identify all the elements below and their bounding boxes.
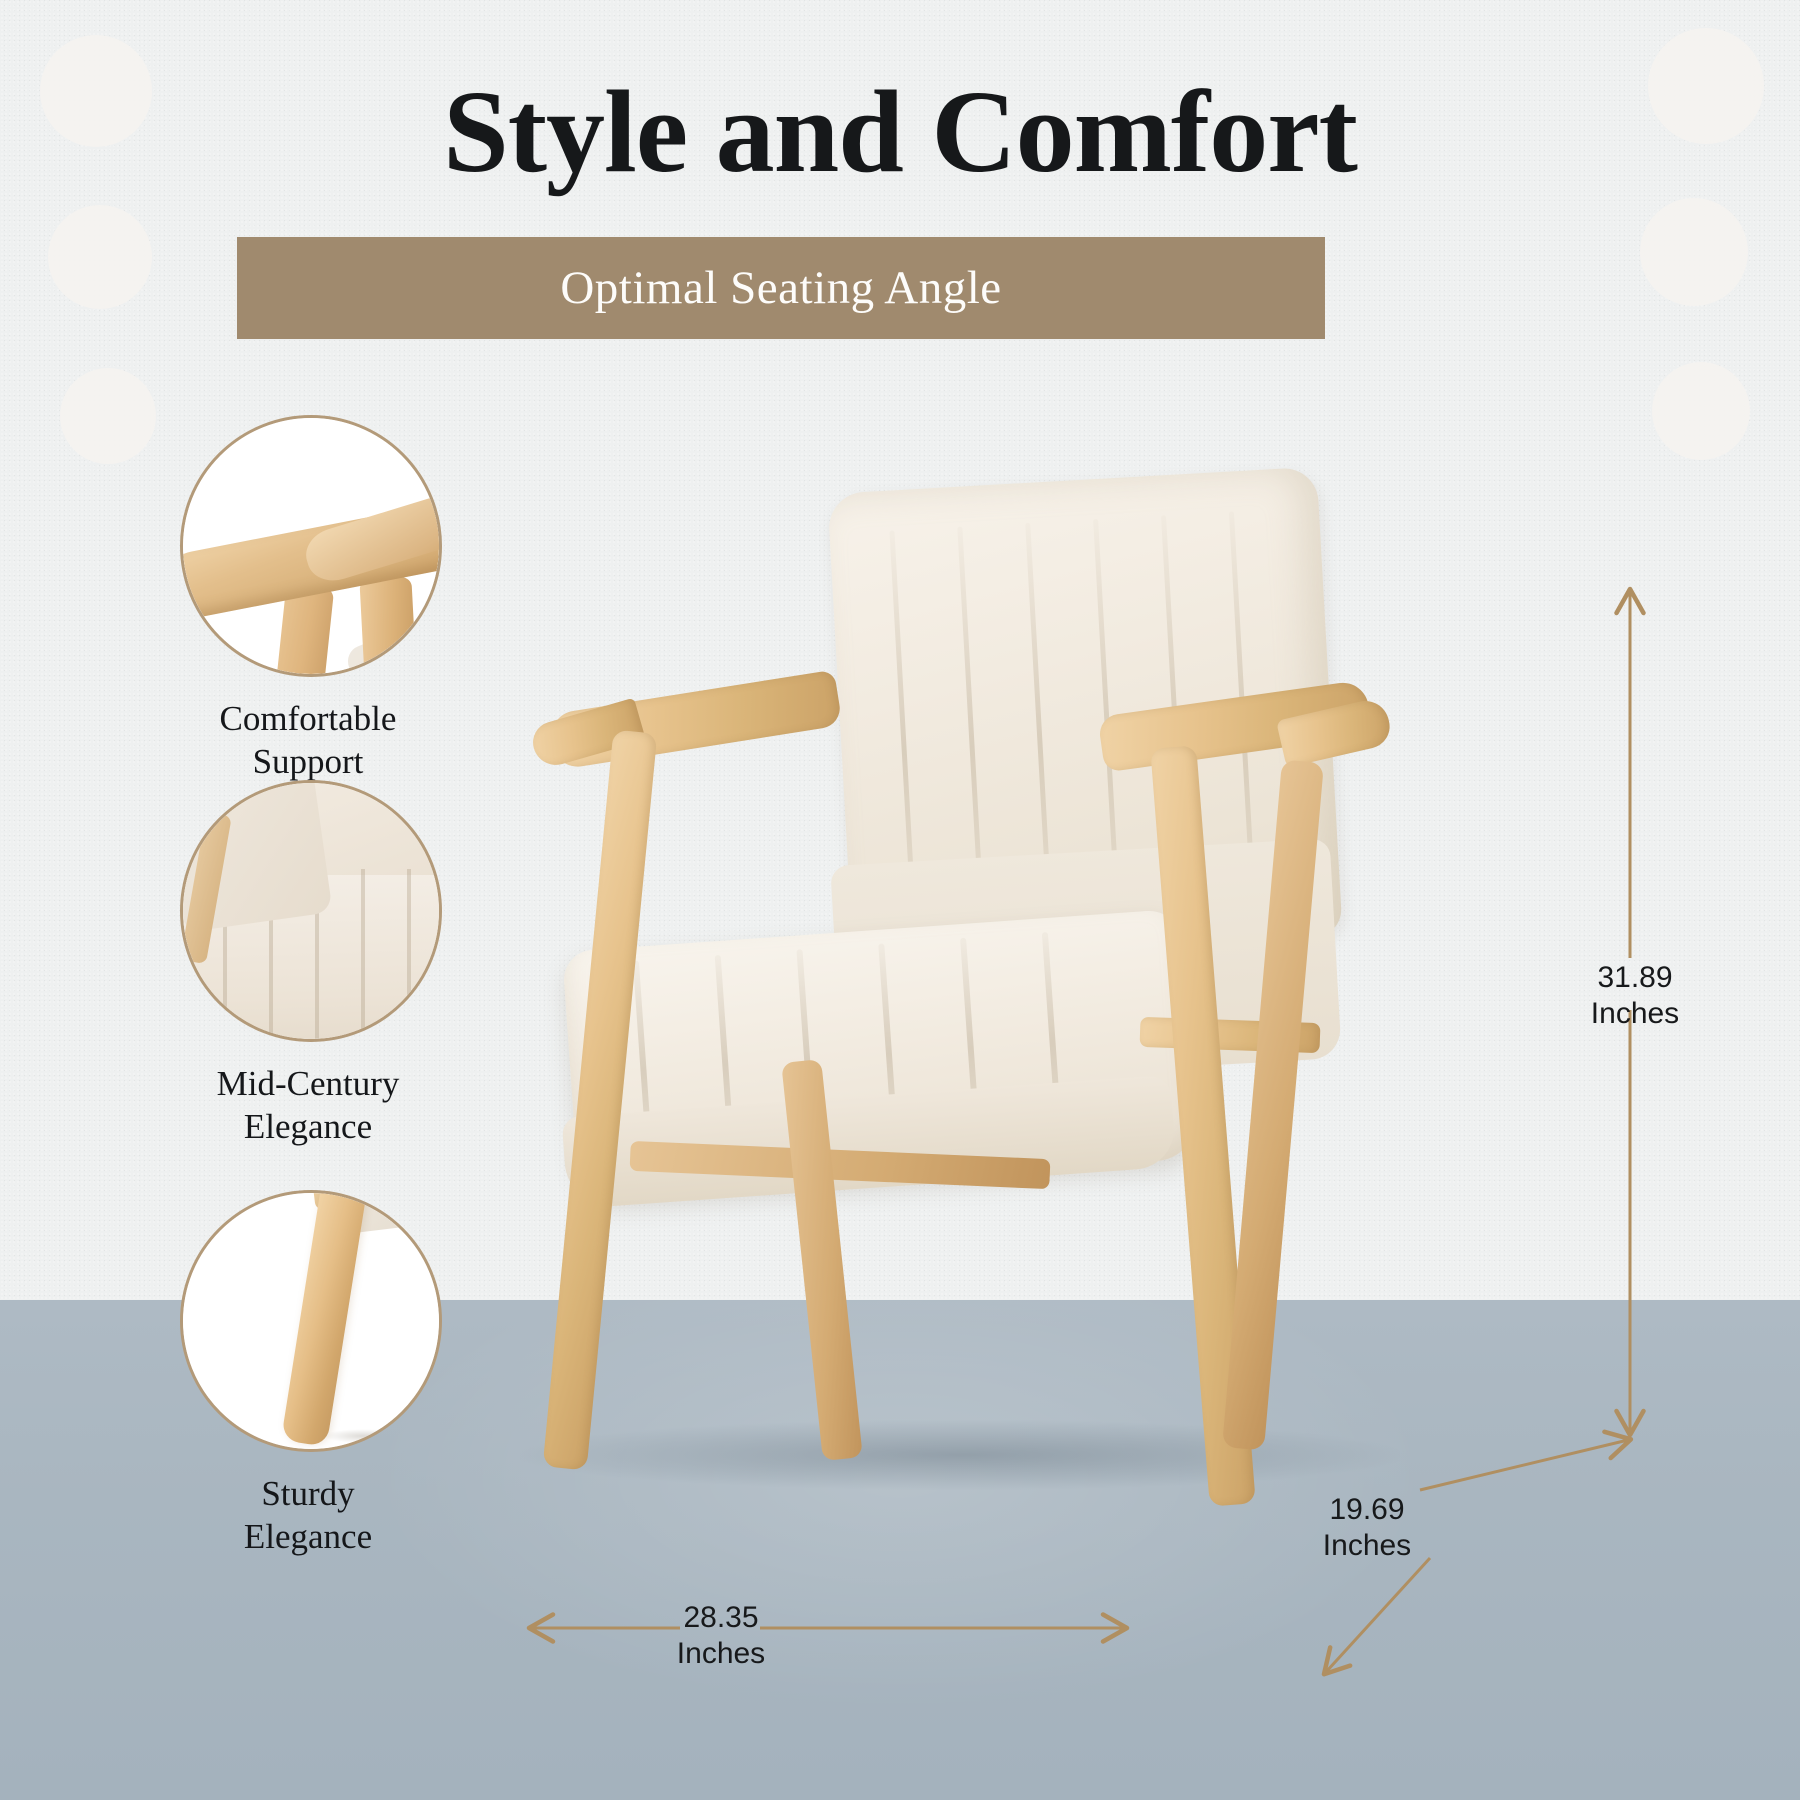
dimension-label-depth: 19.69 Inches — [1282, 1492, 1452, 1564]
subtitle-banner-text: Optimal Seating Angle — [560, 261, 1001, 315]
decorative-dot — [48, 205, 152, 309]
callout-label-line2: Support — [180, 740, 436, 783]
callout-image-leg — [183, 1193, 439, 1449]
callout-comfortable-support[interactable]: Comfortable Support — [180, 415, 436, 784]
callout-label-sturdy-elegance: Sturdy Elegance — [180, 1472, 436, 1559]
callout-label-line1: Mid-Century — [180, 1062, 436, 1105]
dimension-unit-depth: Inches — [1282, 1528, 1452, 1564]
dimension-value-depth: 19.69 — [1282, 1492, 1452, 1528]
callout-label-line2: Elegance — [180, 1105, 436, 1148]
dimension-unit-width: Inches — [596, 1636, 846, 1672]
callout-label-line2: Elegance — [180, 1515, 436, 1558]
callout-label-line1: Sturdy — [180, 1472, 436, 1515]
callout-bubble-cushion — [180, 780, 442, 1042]
dimension-unit-height: Inches — [1560, 996, 1710, 1032]
subtitle-banner: Optimal Seating Angle — [237, 237, 1325, 339]
callout-label-mid-century-elegance: Mid-Century Elegance — [180, 1062, 436, 1149]
callout-mid-century-elegance[interactable]: Mid-Century Elegance — [180, 780, 436, 1149]
dimension-value-width: 28.35 — [596, 1600, 846, 1636]
dimension-label-height: 31.89 Inches — [1560, 960, 1710, 1032]
infographic-canvas: Style and Comfort Optimal Seating Angle — [0, 0, 1800, 1800]
decorative-dot — [1652, 362, 1750, 460]
callout-bubble-armrest — [180, 415, 442, 677]
dimension-label-width: 28.35 Inches — [596, 1600, 846, 1672]
callout-image-armrest — [183, 418, 439, 674]
callout-label-comfortable-support: Comfortable Support — [180, 697, 436, 784]
callout-image-cushion — [183, 783, 439, 1039]
product-chair-image — [540, 460, 1400, 1520]
callout-bubble-leg — [180, 1190, 442, 1452]
dimension-value-height: 31.89 — [1560, 960, 1710, 996]
callout-label-line1: Comfortable — [180, 697, 436, 740]
decorative-dot — [60, 368, 156, 464]
decorative-dot — [1640, 198, 1748, 306]
callout-sturdy-elegance[interactable]: Sturdy Elegance — [180, 1190, 436, 1559]
page-title: Style and Comfort — [0, 72, 1800, 192]
